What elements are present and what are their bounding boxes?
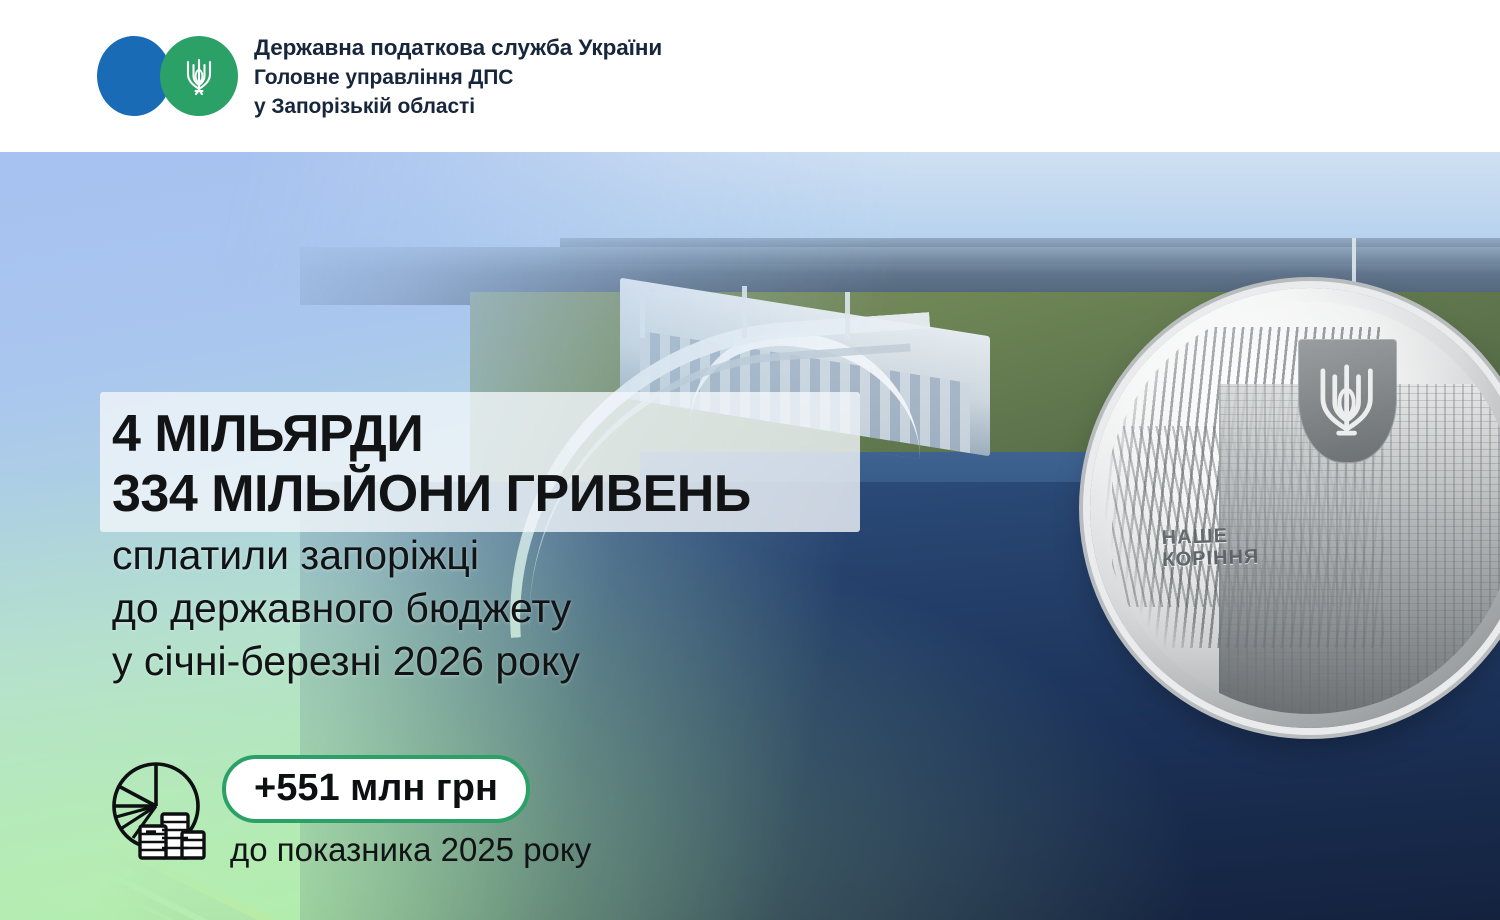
headline-highlight-box: 4 МІЛЬЯРДИ 334 МІЛЬЙОНИ ГРИВЕНЬ: [100, 392, 860, 532]
poster-stage: НАШЕ КОРІННЯ 4 МІЛЬЯРДИ 334 МІЛЬЙОНИ ГРИ…: [0, 152, 1500, 920]
headline-line1: 4 МІЛЬЯРДИ: [100, 404, 860, 464]
dps-logo: [97, 36, 247, 116]
growth-value: +551 млн грн: [254, 767, 498, 809]
growth-badge: +551 млн грн до показника 2025 року: [100, 752, 740, 872]
org-name-line1: Державна податкова служба України: [254, 32, 662, 63]
infographic-poster: Державна податкова служба України Головн…: [0, 0, 1500, 920]
subheadline-line3: у січні-березні 2026 року: [112, 635, 580, 688]
poster-copy: 4 МІЛЬЯРДИ 334 МІЛЬЙОНИ ГРИВЕНЬ сплатили…: [0, 152, 1500, 920]
org-name-line2: Головне управління ДПС: [254, 63, 662, 92]
subheadline-line2: до державного бюджету: [112, 582, 580, 635]
subheadline: сплатили запоріжці до державного бюджету…: [112, 529, 580, 688]
pie-chart-coins-icon: [106, 758, 210, 862]
subheadline-line1: сплатили запоріжці: [112, 529, 580, 582]
headline-line2: 334 МІЛЬЙОНИ ГРИВЕНЬ: [100, 464, 860, 524]
ukraine-trident-icon: [183, 54, 215, 98]
growth-caption: до показника 2025 року: [230, 830, 591, 870]
growth-value-pill: +551 млн грн: [222, 755, 530, 823]
brand-header: Державна податкова служба України Головн…: [0, 0, 1500, 152]
brand-header-text: Державна податкова служба України Головн…: [254, 32, 662, 121]
org-name-line3: у Запорізькій області: [254, 92, 662, 121]
